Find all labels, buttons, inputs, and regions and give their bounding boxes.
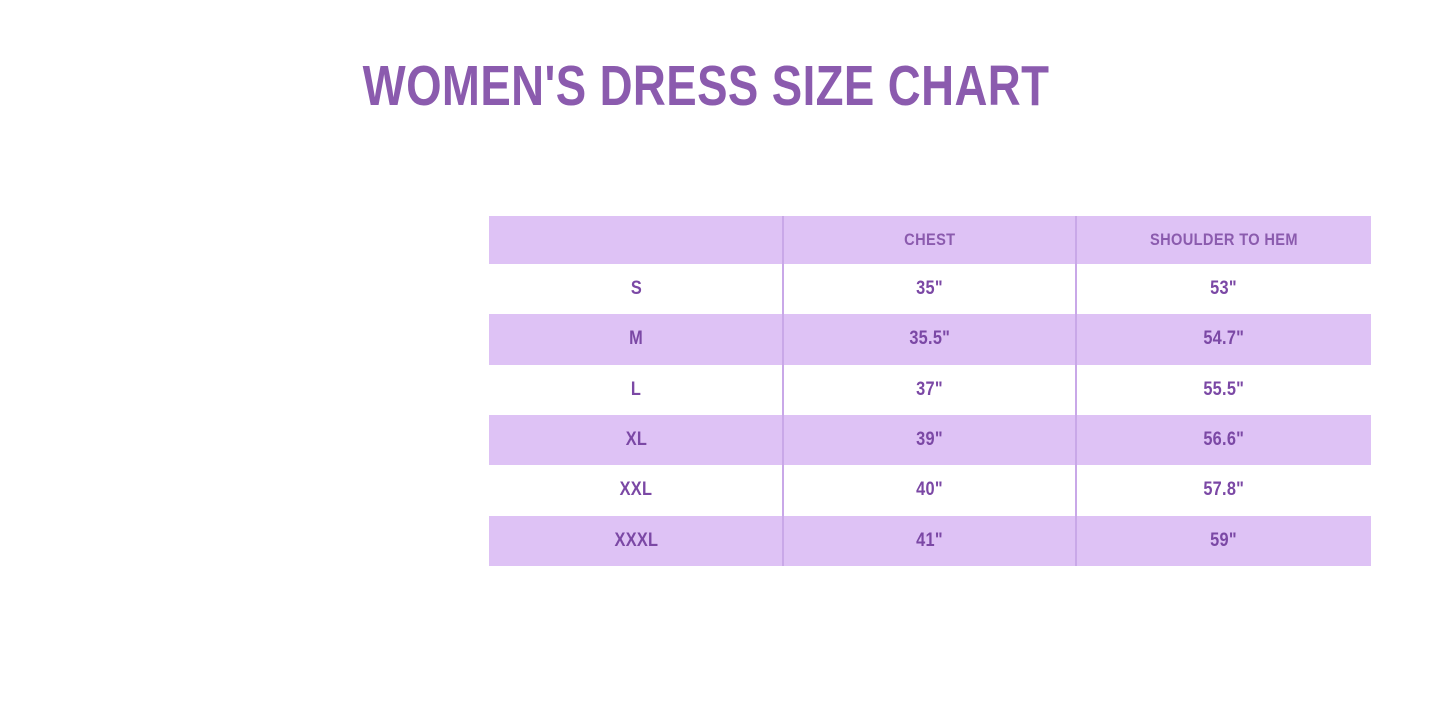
column-header-size xyxy=(489,216,783,264)
table-body: S 35" 53" M 35.5" 54.7" L xyxy=(489,264,1371,566)
size-label: L xyxy=(631,379,641,401)
cell-chest: 41" xyxy=(783,516,1076,566)
size-label: M xyxy=(629,328,643,350)
size-label: XL xyxy=(625,429,646,451)
shoulder-to-hem-value: 54.7" xyxy=(1203,328,1244,350)
column-header-shoulder-to-hem-label: SHOULDER TO HEM xyxy=(1150,230,1298,250)
table-row: L 37" 55.5" xyxy=(489,365,1371,415)
chest-value: 39" xyxy=(916,429,943,451)
chest-value: 40" xyxy=(916,479,943,501)
chest-value: 37" xyxy=(916,379,943,401)
size-chart-table: CHEST SHOULDER TO HEM S 35" 53" M 35.5" xyxy=(489,216,1371,566)
table-header-row: CHEST SHOULDER TO HEM xyxy=(489,216,1371,264)
cell-size: XXXL xyxy=(489,516,783,566)
cell-size: L xyxy=(489,365,783,415)
column-header-shoulder-to-hem: SHOULDER TO HEM xyxy=(1076,216,1371,264)
shoulder-to-hem-value: 55.5" xyxy=(1203,379,1244,401)
page-title: WOMEN'S DRESS SIZE CHART xyxy=(0,54,1412,118)
cell-shoulder-to-hem: 59" xyxy=(1076,516,1371,566)
table-row: S 35" 53" xyxy=(489,264,1371,314)
cell-chest: 40" xyxy=(783,465,1076,515)
shoulder-to-hem-value: 56.6" xyxy=(1203,429,1244,451)
chest-value: 35.5" xyxy=(909,328,950,350)
column-header-chest: CHEST xyxy=(783,216,1076,264)
cell-chest: 35.5" xyxy=(783,314,1076,364)
cell-shoulder-to-hem: 56.6" xyxy=(1076,415,1371,465)
table-row: XL 39" 56.6" xyxy=(489,415,1371,465)
table-row: M 35.5" 54.7" xyxy=(489,314,1371,364)
column-header-chest-label: CHEST xyxy=(904,230,955,250)
cell-shoulder-to-hem: 54.7" xyxy=(1076,314,1371,364)
chest-value: 35" xyxy=(916,278,943,300)
table-header: CHEST SHOULDER TO HEM xyxy=(489,216,1371,264)
cell-size: XL xyxy=(489,415,783,465)
size-label: XXXL xyxy=(614,530,658,552)
shoulder-to-hem-value: 57.8" xyxy=(1203,479,1244,501)
table-row: XXL 40" 57.8" xyxy=(489,465,1371,515)
cell-size: S xyxy=(489,264,783,314)
cell-size: M xyxy=(489,314,783,364)
cell-shoulder-to-hem: 55.5" xyxy=(1076,365,1371,415)
size-label: S xyxy=(630,278,641,300)
cell-chest: 37" xyxy=(783,365,1076,415)
shoulder-to-hem-value: 53" xyxy=(1210,278,1237,300)
shoulder-to-hem-value: 59" xyxy=(1210,530,1237,552)
cell-chest: 35" xyxy=(783,264,1076,314)
table-row: XXXL 41" 59" xyxy=(489,516,1371,566)
column-divider-1 xyxy=(782,216,784,566)
cell-shoulder-to-hem: 57.8" xyxy=(1076,465,1371,515)
column-divider-2 xyxy=(1075,216,1077,566)
cell-chest: 39" xyxy=(783,415,1076,465)
chest-value: 41" xyxy=(916,530,943,552)
cell-shoulder-to-hem: 53" xyxy=(1076,264,1371,314)
cell-size: XXL xyxy=(489,465,783,515)
size-label: XXL xyxy=(620,479,653,501)
